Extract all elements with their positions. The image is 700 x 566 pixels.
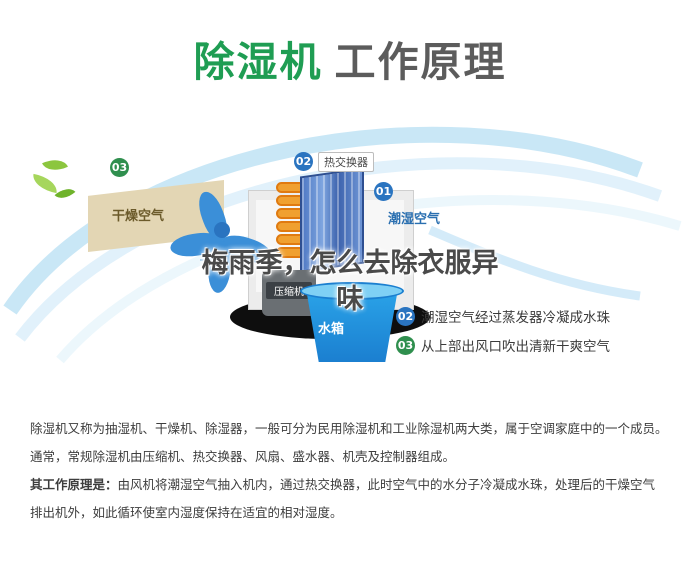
body-paragraph-2: 通常，常规除湿机由压缩机、热交换器、风扇、盛水器、机壳及控制器组成。 (30, 446, 678, 468)
body-paragraph-1: 除湿机又称为抽湿机、干燥机、除湿器，一般可分为民用除湿机和工业除湿机两大类，属于… (30, 418, 678, 440)
legend-badge-02: 02 (396, 307, 415, 326)
description-body: 除湿机又称为抽湿机、干燥机、除湿器，一般可分为民用除湿机和工业除湿机两大类，属于… (30, 418, 678, 530)
legend-text-02: 潮湿空气经过蒸发器冷凝成水珠 (421, 306, 610, 326)
overlay-headline-line1: 梅雨季，怎么去除衣服异 (0, 246, 700, 282)
diagram-badge-02: 02 (294, 152, 313, 171)
diagram-badge-01: 01 (374, 182, 393, 201)
legend-item: 03 从上部出风口吹出清新干爽空气 (396, 335, 696, 355)
diagram-badge-03: 03 (110, 158, 129, 177)
dry-air-label: 干燥空气 (112, 205, 164, 224)
legend-badge-03: 03 (396, 336, 415, 355)
page-root: 除湿机工作原理 干燥空气 (0, 0, 700, 566)
fan-hub-icon (214, 222, 230, 238)
body-paragraph-3-text: 由风机将潮湿空气抽入机内，通过热交换器，此时空气中的水分子冷凝成水珠，处理后的干… (118, 477, 656, 492)
body-paragraph-3-lead: 其工作原理是： (30, 477, 118, 492)
legend-list: 02 潮湿空气经过蒸发器冷凝成水珠 03 从上部出风口吹出清新干爽空气 (396, 306, 696, 364)
legend-text-03: 从上部出风口吹出清新干爽空气 (421, 335, 610, 355)
heat-exchanger-callout: 热交换器 (318, 152, 374, 172)
body-paragraph-4: 排出机外，如此循环使室内湿度保持在适宜的相对湿度。 (30, 502, 678, 524)
page-title: 除湿机工作原理 (0, 28, 700, 88)
title-green-part: 除湿机 (194, 38, 323, 86)
legend-item: 02 潮湿空气经过蒸发器冷凝成水珠 (396, 306, 696, 326)
title-gray-part: 工作原理 (335, 38, 507, 86)
water-tank-label: 水箱 (318, 318, 344, 337)
humid-air-label: 潮湿空气 (388, 208, 440, 227)
body-paragraph-3: 其工作原理是：由风机将潮湿空气抽入机内，通过热交换器，此时空气中的水分子冷凝成水… (30, 474, 678, 496)
